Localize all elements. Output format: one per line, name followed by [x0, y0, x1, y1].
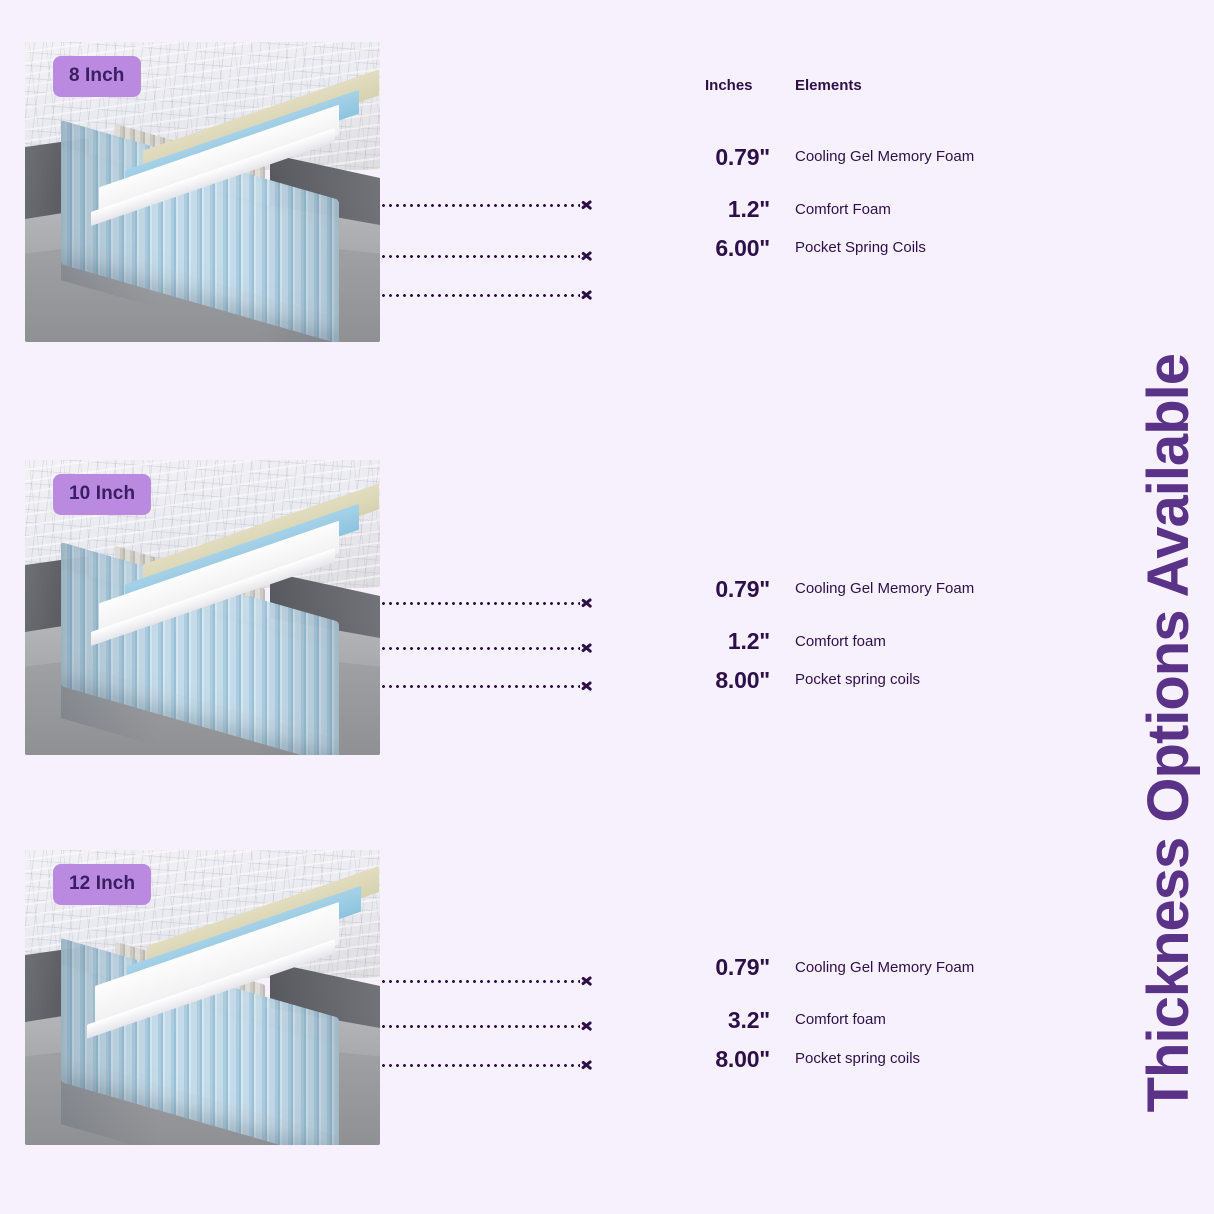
product-block-8-inch: 8 Inch [0, 42, 1060, 382]
row-label: Pocket Spring Coils [795, 239, 926, 256]
leader-line-row-2 [380, 641, 595, 655]
infographic-stage: 8 Inch Inches Elements 0.79" Cooling Gel… [0, 0, 1214, 1214]
product-block-12-inch: 12 Inch [0, 850, 1060, 1190]
leader-line-row-1 [380, 974, 595, 988]
leader-dots [380, 980, 580, 983]
leader-dots [380, 1064, 580, 1067]
row-value: 0.79" [690, 144, 770, 171]
leader-line-row-3 [380, 1058, 595, 1072]
leader-line-row-1 [380, 596, 595, 610]
arrow-right-icon [581, 677, 595, 695]
leader-line-row-2 [380, 249, 595, 263]
row-value: 6.00" [690, 235, 770, 262]
column-header-inches: Inches [705, 77, 753, 94]
arrow-right-icon [581, 639, 595, 657]
leader-dots [380, 204, 580, 207]
arrow-right-icon [581, 1017, 595, 1035]
leader-line-row-2 [380, 1019, 595, 1033]
page-title: Thickness Options Available [1140, 354, 1198, 1112]
leader-dots [380, 294, 580, 297]
row-label: Cooling Gel Memory Foam [795, 959, 974, 976]
leader-line-row-3 [380, 288, 595, 302]
row-value: 1.2" [690, 628, 770, 655]
mattress-image-8-inch: 8 Inch [25, 42, 380, 342]
badge-thickness-10-inch: 10 Inch [53, 474, 151, 515]
row-label: Comfort foam [795, 633, 886, 650]
leader-dots [380, 647, 580, 650]
arrow-right-icon [581, 286, 595, 304]
row-label: Cooling Gel Memory Foam [795, 148, 974, 165]
row-value: 3.2" [690, 1007, 770, 1034]
leader-dots [380, 255, 580, 258]
leader-line-row-1 [380, 198, 595, 212]
row-value: 8.00" [690, 667, 770, 694]
arrow-right-icon [581, 1056, 595, 1074]
arrow-right-icon [581, 196, 595, 214]
row-label: Comfort foam [795, 1011, 886, 1028]
row-label: Pocket spring coils [795, 1050, 920, 1067]
row-value: 8.00" [690, 1046, 770, 1073]
leader-line-row-3 [380, 679, 595, 693]
badge-thickness-8-inch: 8 Inch [53, 56, 141, 97]
mattress-image-12-inch: 12 Inch [25, 850, 380, 1145]
arrow-right-icon [581, 247, 595, 265]
row-label: Pocket spring coils [795, 671, 920, 688]
row-label: Cooling Gel Memory Foam [795, 580, 974, 597]
leader-dots [380, 602, 580, 605]
row-value: 1.2" [690, 196, 770, 223]
leader-dots [380, 685, 580, 688]
arrow-right-icon [581, 972, 595, 990]
column-header-elements: Elements [795, 77, 862, 94]
leader-dots [380, 1025, 580, 1028]
arrow-right-icon [581, 594, 595, 612]
product-block-10-inch: 10 Inch [0, 460, 1060, 800]
row-label: Comfort Foam [795, 201, 891, 218]
badge-thickness-12-inch: 12 Inch [53, 864, 151, 905]
mattress-image-10-inch: 10 Inch [25, 460, 380, 755]
row-value: 0.79" [690, 954, 770, 981]
row-value: 0.79" [690, 576, 770, 603]
